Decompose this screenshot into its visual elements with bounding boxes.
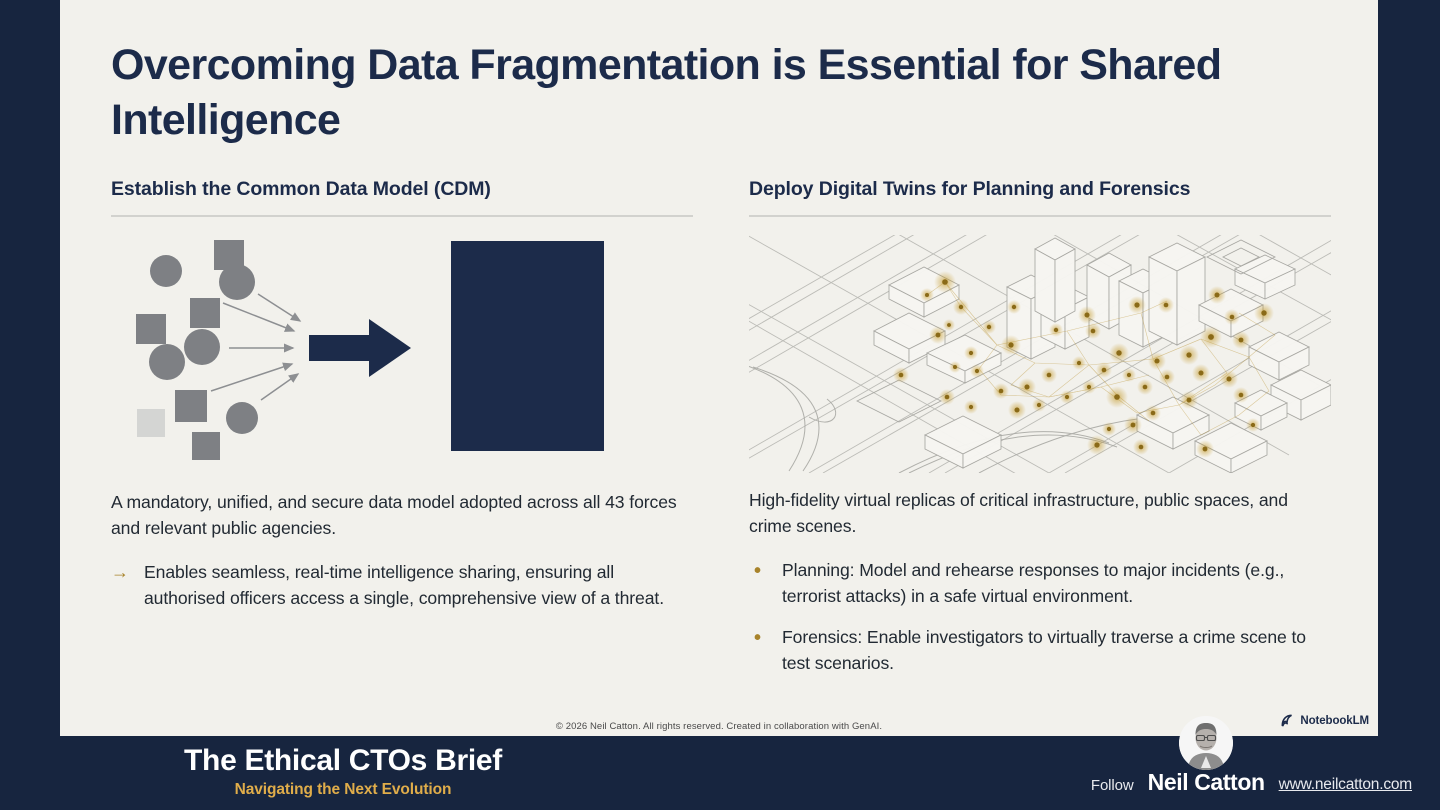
fragment-square [136,314,166,344]
website-link[interactable]: www.neilcatton.com [1279,776,1412,796]
fragment-circle [184,329,220,365]
avatar [1179,716,1233,770]
list-item-text: Forensics: Enable investigators to virtu… [782,624,1331,676]
isometric-city-digital-twin-illustration [749,235,1331,473]
column-divider [749,215,1331,217]
notebooklm-attribution: NotebookLM [1281,714,1369,727]
fragment-square [190,298,220,328]
bullet-list-digital-twins: • Planning: Model and rehearse responses… [749,557,1331,676]
column-heading-cdm: Establish the Common Data Model (CDM) [111,178,693,215]
list-item: • Forensics: Enable investigators to vir… [749,624,1331,676]
copyright-notice: © 2026 Neil Catton. All rights reserved.… [60,721,1378,732]
column-divider [111,215,693,217]
column-cdm: Establish the Common Data Model (CDM) [111,178,693,691]
fragment-circle [150,255,182,287]
fragment-circle [219,264,255,300]
brand-tagline: Navigating the Next Evolution [163,781,523,799]
column-lede-cdm: A mandatory, unified, and secure data mo… [111,489,693,541]
follow-group: Follow Neil Catton [1091,736,1412,810]
list-item-text: Planning: Model and rehearse responses t… [782,557,1331,609]
unified-data-model-block [451,241,604,451]
list-item: • Planning: Model and rehearse responses… [749,557,1331,609]
list-item: → Enables seamless, real-time intelligen… [111,559,693,611]
fragment-square [192,432,220,460]
bottom-brand-bar: The Ethical CTOs Brief Navigating the Ne… [0,736,1440,810]
columns-container: Establish the Common Data Model (CDM) [111,178,1331,691]
bullet-list-cdm: → Enables seamless, real-time intelligen… [111,559,693,611]
bullet-dot-icon: • [749,624,769,676]
page-title: Overcoming Data Fragmentation is Essenti… [111,38,1261,147]
column-lede-digital-twins: High-fidelity virtual replicas of critic… [749,487,1331,539]
bullet-dot-icon: • [749,557,769,609]
list-item-text: Enables seamless, real-time intelligence… [144,559,693,611]
fragment-square [175,390,207,422]
arrow-right-icon: → [111,559,131,611]
avatar-portrait-icon [1179,716,1233,770]
slide-card: Overcoming Data Fragmentation is Essenti… [60,0,1378,736]
convergence-arrows [211,294,300,400]
notebooklm-label: NotebookLM [1300,715,1369,727]
follow-label: Follow [1091,777,1134,796]
digital-twin-svg [749,235,1331,473]
column-digital-twins: Deploy Digital Twins for Planning and Fo… [749,178,1331,691]
cdm-diagram-svg [111,231,693,475]
fragment-square-faded [137,409,165,437]
person-name: Neil Catton [1148,769,1265,796]
unify-arrow-icon [309,319,411,377]
fragment-circle [149,344,185,380]
brand-block: The Ethical CTOs Brief Navigating the Ne… [163,744,523,799]
fragment-circle [226,402,258,434]
person-block: Neil Catton [1148,769,1265,796]
brand-title: The Ethical CTOs Brief [163,744,523,779]
column-heading-digital-twins: Deploy Digital Twins for Planning and Fo… [749,178,1331,215]
notebooklm-icon [1281,714,1295,727]
data-fragmentation-convergence-diagram [111,231,693,475]
